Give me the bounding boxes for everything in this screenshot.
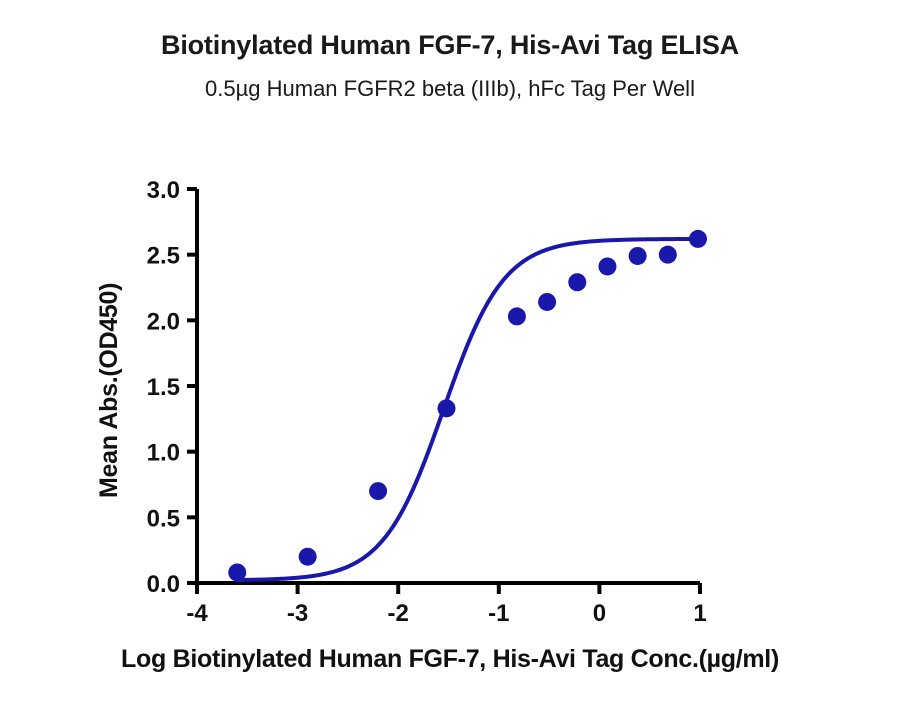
x-tick-label: 1 — [693, 600, 706, 627]
data-point — [659, 246, 677, 264]
data-point — [598, 257, 616, 275]
x-tick-label: -4 — [186, 600, 208, 627]
tick-marks-group — [187, 189, 700, 594]
data-point — [629, 247, 647, 265]
axes-group — [197, 189, 700, 583]
y-tick-label: 2.0 — [147, 308, 180, 335]
x-tick-label: -3 — [287, 600, 308, 627]
elisa-chart-figure: Biotinylated Human FGF-7, His-Avi Tag EL… — [0, 0, 900, 714]
data-point — [228, 563, 246, 581]
y-tick-label: 1.5 — [147, 374, 180, 401]
fit-curve — [237, 239, 698, 580]
data-point — [508, 307, 526, 325]
y-tick-label: 0.0 — [147, 571, 180, 598]
x-tick-label: -1 — [488, 600, 509, 627]
axis-spines — [197, 189, 700, 583]
x-tick-labels: -4-3-2-101 — [186, 600, 706, 627]
y-tick-label: 2.5 — [147, 243, 180, 270]
data-point — [437, 399, 455, 417]
data-point — [689, 230, 707, 248]
data-point — [369, 482, 387, 500]
y-tick-label: 1.0 — [147, 440, 180, 467]
y-tick-label: 3.0 — [147, 177, 180, 204]
data-point — [299, 548, 317, 566]
x-tick-label: -2 — [388, 600, 409, 627]
x-axis-label: Log Biotinylated Human FGF-7, His-Avi Ta… — [0, 645, 900, 674]
data-points-group — [228, 230, 707, 582]
x-tick-label: 0 — [593, 600, 606, 627]
plot-area: 0.00.51.01.52.02.53.0 -4-3-2-101 — [0, 0, 900, 714]
data-point — [568, 273, 586, 291]
y-tick-labels: 0.00.51.01.52.02.53.0 — [147, 177, 180, 598]
y-tick-label: 0.5 — [147, 505, 180, 532]
data-point — [538, 293, 556, 311]
